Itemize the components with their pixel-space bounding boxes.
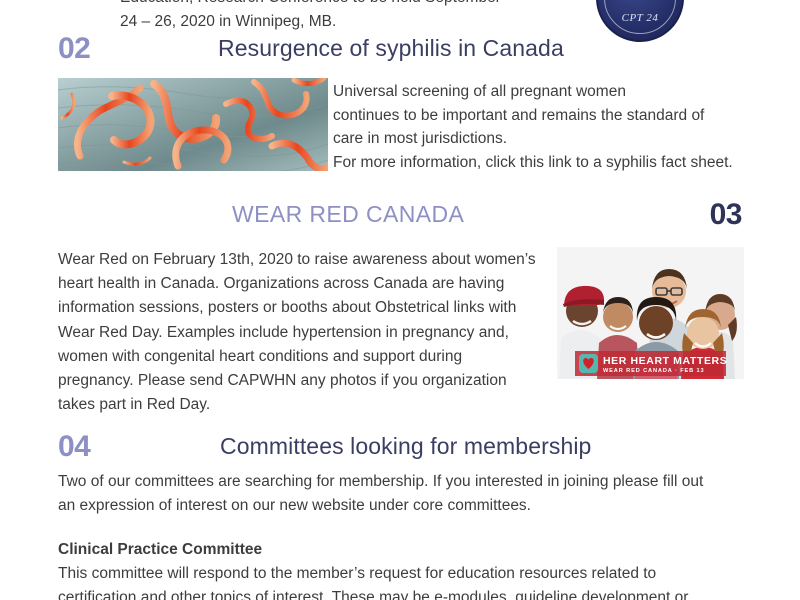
clinical-practice-committee-line-2: certification and other topics of intere… [58,586,758,600]
syphilis-body-line-1: Universal screening of all pregnant wome… [333,80,763,104]
newsletter-page: Education, Research Conference to be hel… [0,0,800,600]
wear-red-body-line-7: takes part in Red Day. [58,393,543,417]
section-number-02: 02 [58,32,90,66]
section-title-syphilis: Resurgence of syphilis in Canada [218,35,564,62]
committees-body-text: Two of our committees are searching for … [58,470,758,518]
wear-red-body-line-5: women with congenital heart conditions a… [58,345,543,369]
svg-text:WEAR RED CANADA · FEB 13: WEAR RED CANADA · FEB 13 [603,368,705,374]
section-title-wear-red-canada: WEAR RED CANADA [232,201,464,228]
clinical-practice-committee-line-1: This committee will respond to the membe… [58,562,758,586]
syphilis-body-line-2: continues to be important and remains th… [333,104,763,128]
syphilis-spirochetes-micrograph [58,78,328,171]
committees-body-line-2: an expression of interest on our new web… [58,494,758,518]
wear-red-body-text: Wear Red on February 13th, 2020 to raise… [58,248,543,417]
syphilis-fact-sheet-link[interactable]: For more information, click this link to… [333,151,763,175]
wear-red-body-line-1: Wear Red on February 13th, 2020 to raise… [58,248,543,272]
clinical-practice-committee-block: Clinical Practice Committee This committ… [58,538,758,600]
wear-red-body-line-3: information sessions, posters or booths … [58,296,543,320]
syphilis-body-line-3: care in most jurisdictions. [333,127,763,151]
intro-line-1: Education, Research Conference to be hel… [120,0,590,10]
wear-red-body-line-2: heart health in Canada. Organizations ac… [58,272,543,296]
section-heading-04: 04 Committees looking for membership [0,430,800,468]
wear-red-body-line-4: Wear Red Day. Examples include hypertens… [58,321,543,345]
crest-label: CPT 24 [598,12,682,24]
intro-paragraph: Education, Research Conference to be hel… [120,0,590,34]
committees-body-line-1: Two of our committees are searching for … [58,470,758,494]
clinical-practice-committee-heading: Clinical Practice Committee [58,538,758,562]
section-heading-02: 02 Resurgence of syphilis in Canada [0,32,800,70]
section-title-committees: Committees looking for membership [220,433,591,460]
section-number-03: 03 [710,198,742,232]
svg-text:HER HEART MATTERS: HER HEART MATTERS [603,355,727,367]
wear-red-body-line-6: pregnancy. Please send CAPWHN any photos… [58,369,543,393]
section-heading-03: WEAR RED CANADA 03 [0,198,800,236]
section-number-04: 04 [58,430,90,464]
syphilis-body-text: Universal screening of all pregnant wome… [333,80,763,174]
intro-line-2: 24 – 26, 2020 in Winnipeg, MB. [120,10,590,34]
her-heart-matters-group-photo: HER HEART MATTERS WEAR RED CANADA · FEB … [557,247,744,379]
